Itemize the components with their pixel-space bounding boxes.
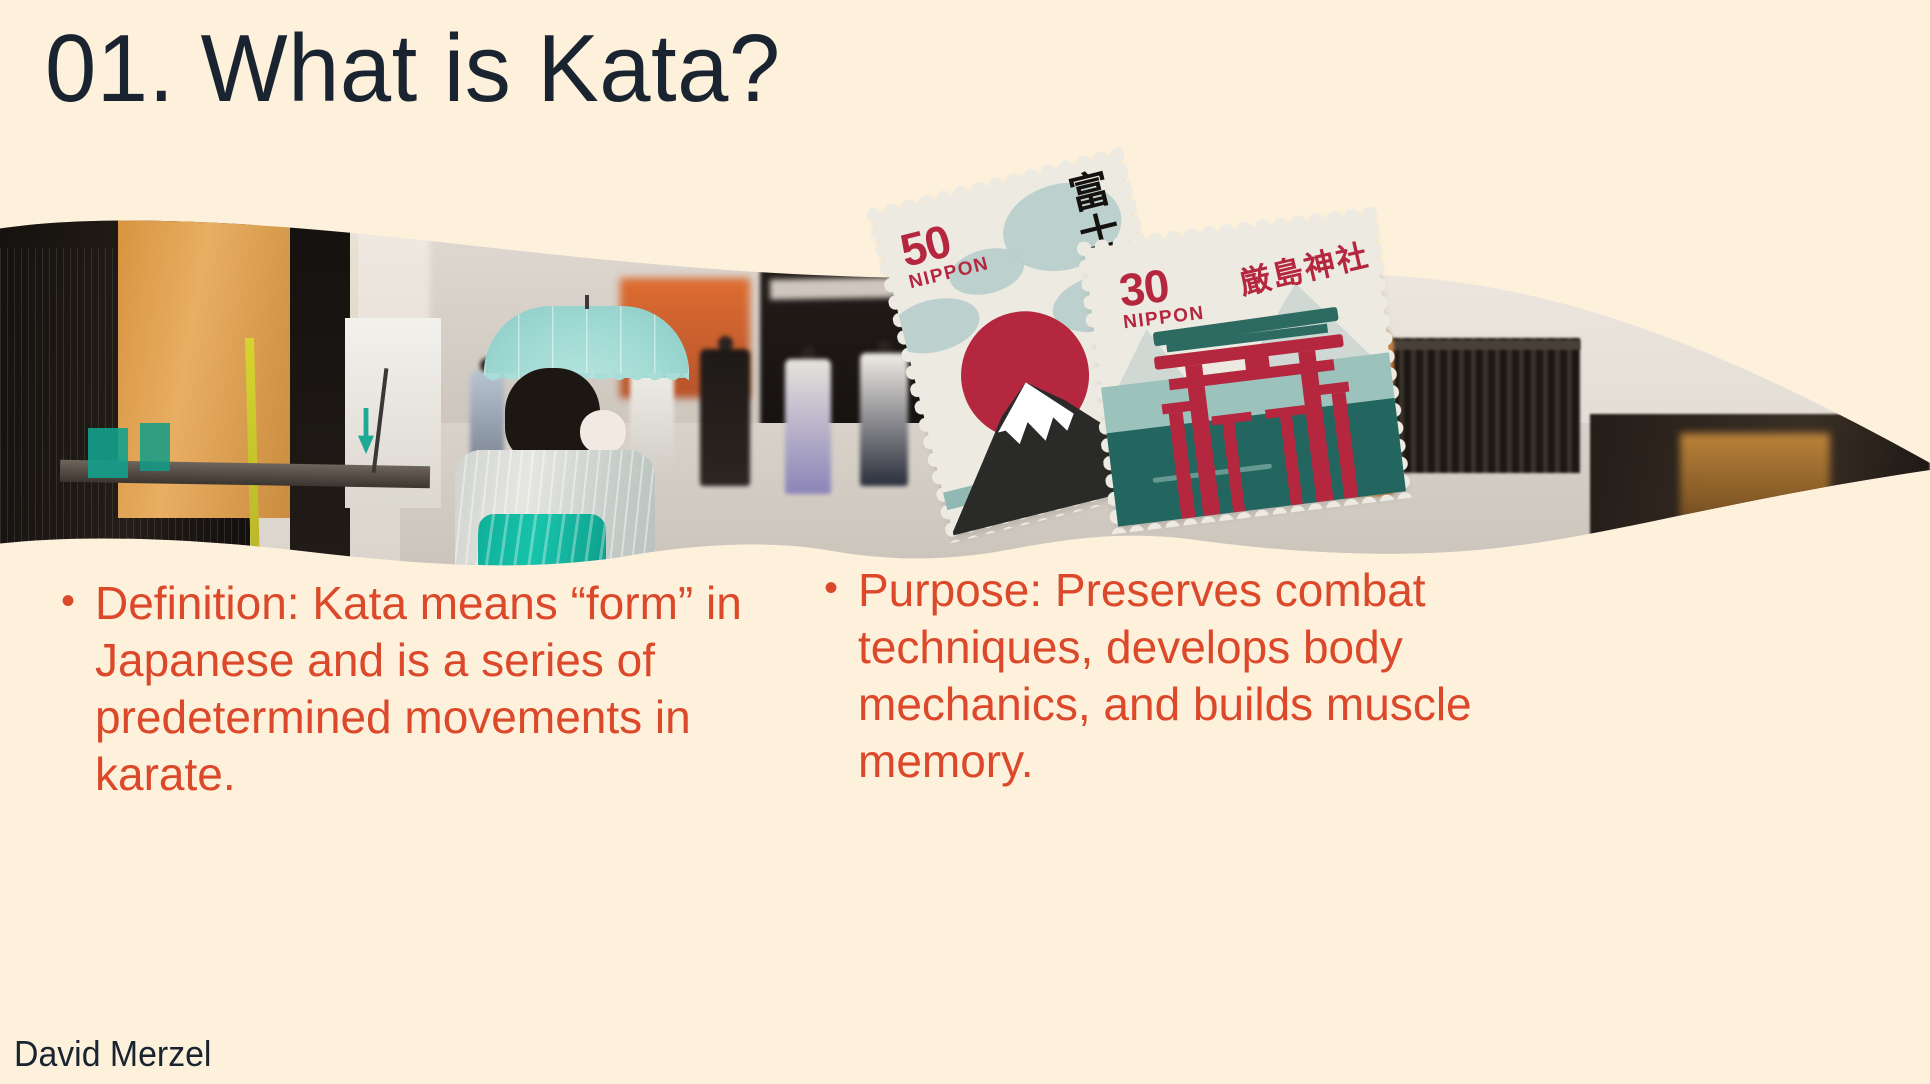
stamp-collage: 富士山 50 NIPPON xyxy=(880,150,1580,570)
page-title: 01. What is Kata? xyxy=(45,10,781,128)
slide-canvas: 01. What is Kata? xyxy=(0,0,1930,1084)
list-item: Purpose: Preserves combat techniques, de… xyxy=(818,562,1558,790)
bullet-list-right: Purpose: Preserves combat techniques, de… xyxy=(818,562,1558,790)
list-item: Definition: Kata means “form” in Japanes… xyxy=(55,575,815,803)
torii-gate-icon xyxy=(1157,309,1357,519)
itsukushima-shrine-stamp: 厳島神社 30 NIPPON xyxy=(1084,213,1406,526)
bullet-list-left: Definition: Kata means “form” in Japanes… xyxy=(55,575,815,803)
stamp-denomination: 30 NIPPON xyxy=(1117,259,1206,334)
author-footer: David Merzel xyxy=(14,1032,211,1076)
